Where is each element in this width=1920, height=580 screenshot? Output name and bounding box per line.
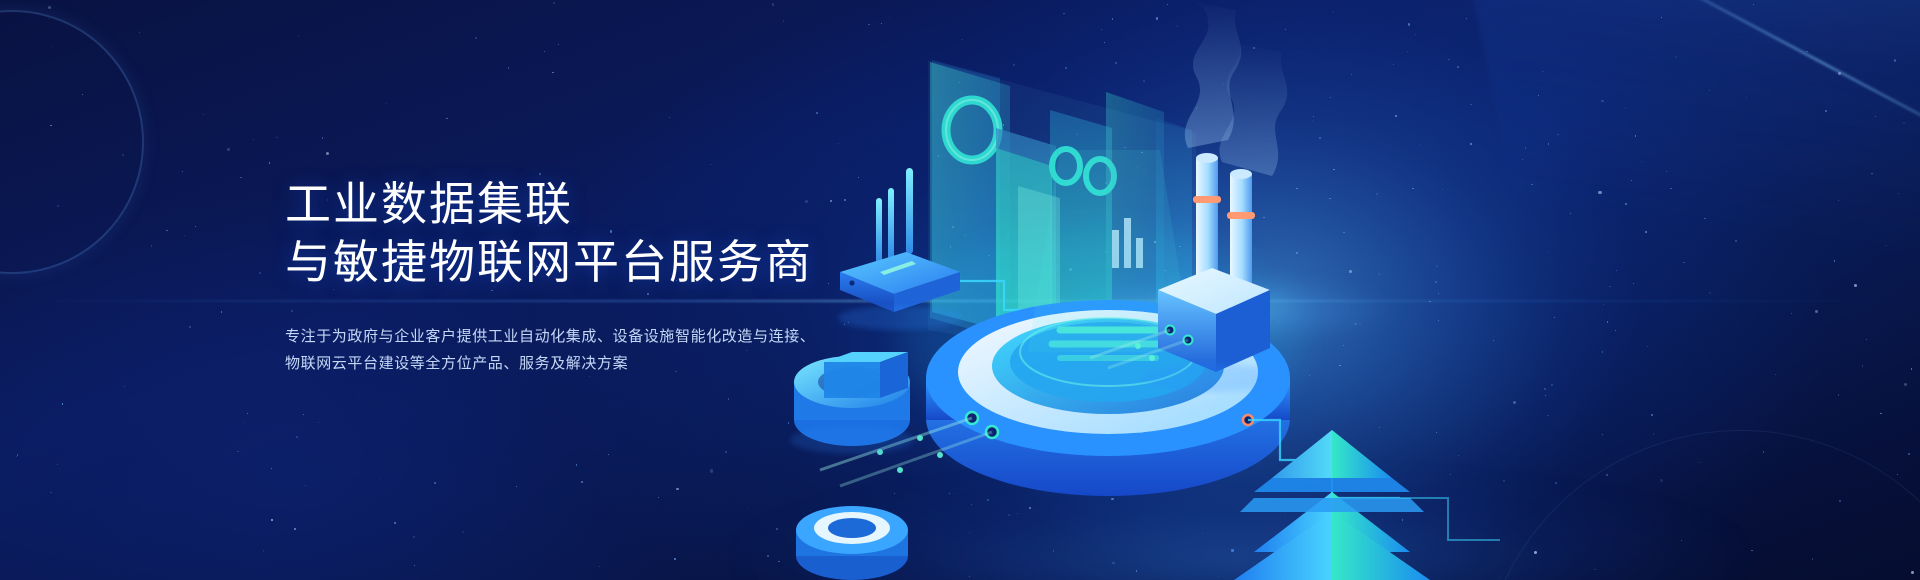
subtitle-line-2: 物联网云平台建设等全方位产品、服务及解决方案 xyxy=(285,350,925,378)
headline-line-1: 工业数据集联 xyxy=(285,178,573,230)
decorative-arc-left xyxy=(0,10,144,274)
headline-line-2: 与敏捷物联网平台服务商 xyxy=(285,234,925,292)
hero-illustration xyxy=(760,0,1920,580)
ring-base-module xyxy=(796,506,908,580)
hero-copy-block: 工业数据集联 与敏捷物联网平台服务商 专注于为政府与企业客户提供工业自动化集成、… xyxy=(285,145,925,393)
hero-banner: 工业数据集联 与敏捷物联网平台服务商 专注于为政府与企业客户提供工业自动化集成、… xyxy=(0,0,1920,580)
page-title: 工业数据集联 与敏捷物联网平台服务商 xyxy=(285,176,925,292)
subtitle-line-1: 专注于为政府与企业客户提供工业自动化集成、设备设施智能化改造与连接、 xyxy=(285,323,925,351)
page-subtitle: 专注于为政府与企业客户提供工业自动化集成、设备设施智能化改造与连接、 物联网云平… xyxy=(285,323,925,379)
